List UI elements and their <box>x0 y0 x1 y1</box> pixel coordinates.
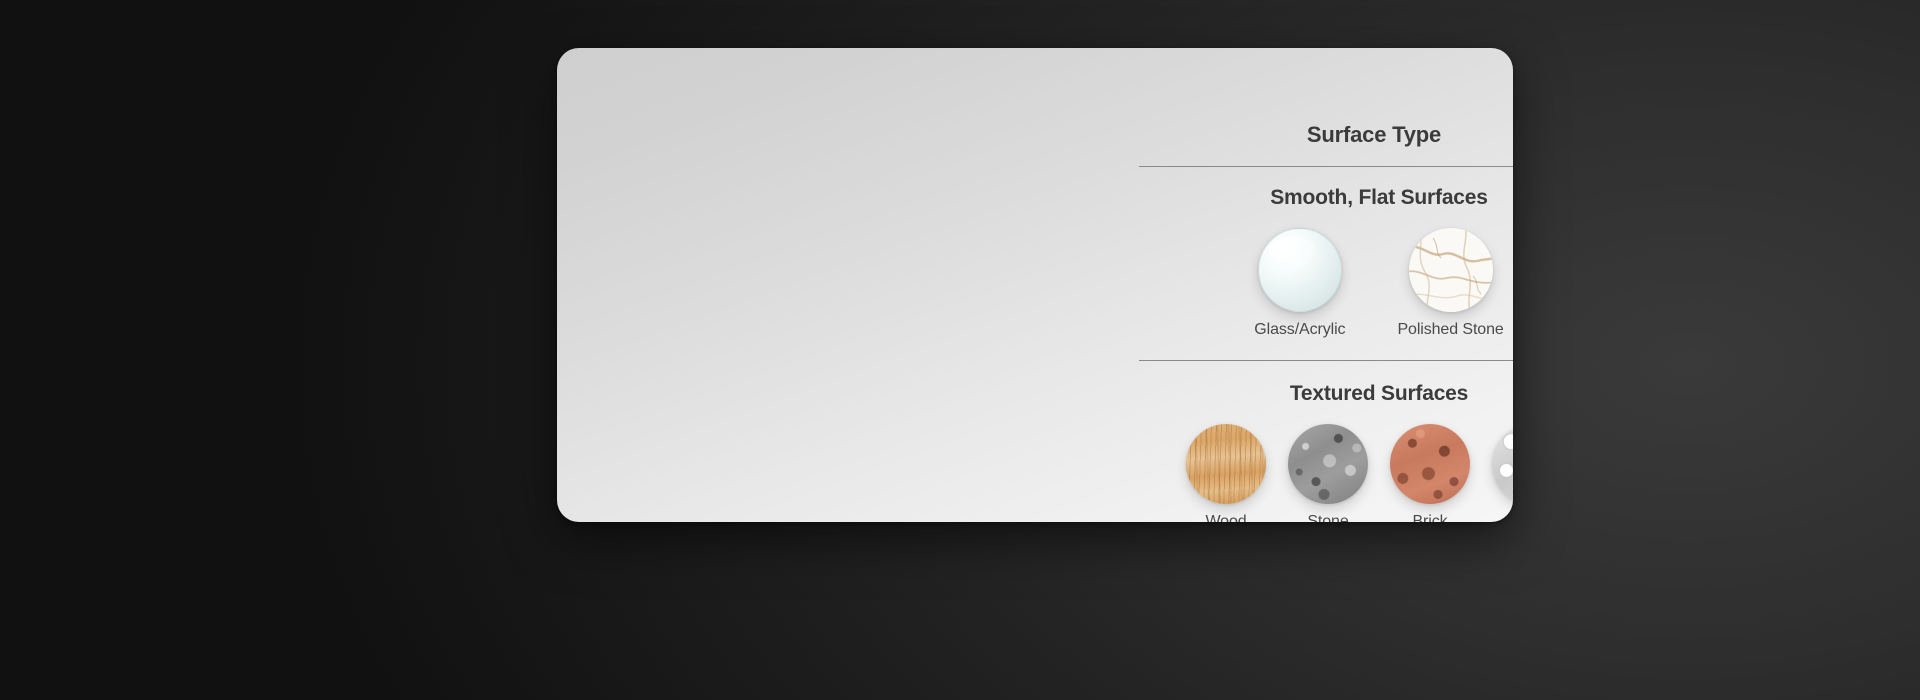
stone-disc-icon <box>1288 424 1368 504</box>
swatch-wood: Wood <box>1186 424 1266 522</box>
column-header-surface-type: Surface Type <box>1139 122 1513 148</box>
swatch-label-brick: Brick <box>1412 513 1447 522</box>
glass-disc-icon <box>1258 228 1342 312</box>
swatch-label-polished-stone: Polished Stone <box>1397 321 1503 339</box>
row-divider <box>1139 360 1513 361</box>
swatch-glass-acrylic: Glass/Acrylic <box>1254 228 1345 339</box>
surface-mounting-guide-card: Surface Type How to Mount Smooth, Flat S… <box>557 48 1513 522</box>
swatch-label-glass-acrylic: Glass/Acrylic <box>1254 321 1345 339</box>
row-title-textured: Textured Surfaces <box>1139 382 1513 406</box>
row-title-smooth-flat: Smooth, Flat Surfaces <box>1139 186 1513 210</box>
swatch-label-wood: Wood <box>1205 513 1246 522</box>
swatch-label-stone: Stone <box>1307 513 1348 522</box>
swatch-polished-stone: Polished Stone <box>1397 228 1503 339</box>
swatch-stone: Stone <box>1288 424 1368 522</box>
swatch-brick: Brick <box>1390 424 1470 522</box>
header-divider <box>1139 166 1513 167</box>
pebble-disc-icon <box>1492 424 1513 504</box>
swatch-row-textured: Wood Stone Brick Pebble <box>1139 424 1513 522</box>
swatch-label-pebble: Pebble <box>1507 513 1513 522</box>
marble-disc-icon <box>1409 228 1493 312</box>
wood-disc-icon <box>1186 424 1266 504</box>
swatch-row-smooth-flat: Glass/Acrylic <box>1139 228 1513 339</box>
brick-disc-icon <box>1390 424 1470 504</box>
swatch-pebble: Pebble <box>1492 424 1513 522</box>
